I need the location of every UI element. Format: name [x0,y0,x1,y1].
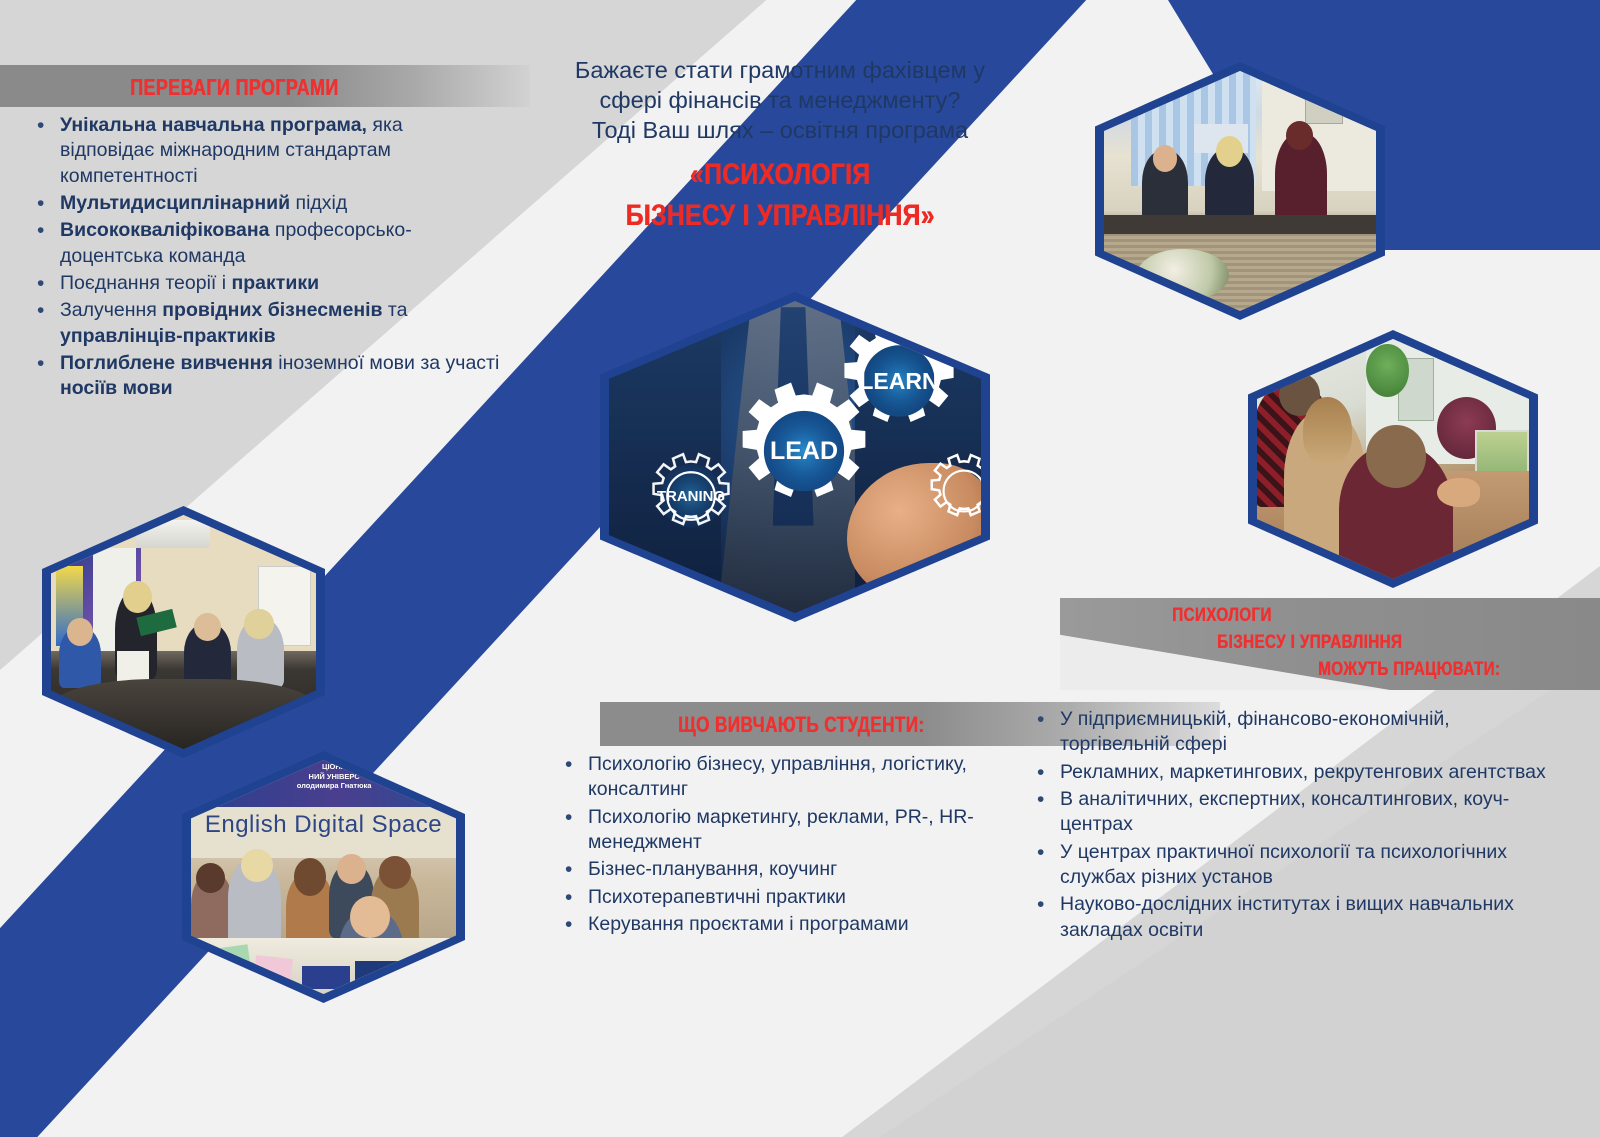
list-item: Мультидисциплінарний підхід [30,191,500,216]
advantages-list: Унікальна навчальна програма, яка відпов… [30,113,500,404]
headline-line-2: сфері фінансів та менеджменту? [540,85,1020,115]
list-item: Унікальна навчальна програма, яка відпов… [30,113,500,189]
list-item: Психологію бізнесу, управління, логістик… [558,752,1028,803]
computer-consultation-photo [1257,339,1529,579]
air-conditioner [136,520,210,548]
list-item: Бізнес-планування, коучинг [558,857,1028,882]
item-bold: провідних бізнесменів [162,299,382,321]
item-text: Залучення [60,299,162,321]
item-text: Поєднання теорії і [60,272,231,294]
item-bold: Висококваліфікована [60,219,269,241]
list-item: Керування проєктами і програмами [558,912,1028,937]
careers-list: У підприємницькій, фінансово-економічній… [1030,707,1550,945]
hexagon-students-inner: ЦІОНА НИЙ УНІВЕРС олодимира Гнатюка Engl… [191,760,456,994]
headline-line-1: Бажаєте стати грамотним фахівцем у [540,55,1020,85]
hexagon-lecture-inner [51,515,316,749]
gear-outline-small-icon [932,455,981,515]
item-bold: практики [231,272,319,294]
student-2-head [294,858,326,895]
speaker-hair [123,581,152,614]
person-center-hair [1216,136,1243,167]
list-item: У центрах практичної психології та психо… [1030,840,1550,891]
careers-header-line-2: БІЗНЕСУ І УПРАВЛІННЯ [1217,631,1402,654]
hexagon-gears-inner: TRANING LEAD LEARN [609,301,981,613]
person-left-head [1153,145,1177,171]
list-item: Психологію маркетингу, реклами, PR-, HR-… [558,805,1028,856]
list-item: Психотерапевтичні практики [558,885,1028,910]
student-4-head [379,856,411,889]
woman-right-hair [244,609,273,639]
headline-block: Бажаєте стати грамотним фахівцем у сфері… [540,55,1020,236]
professor-head [194,613,221,641]
item-text: та [383,299,408,321]
person-maroon-head [1366,425,1426,487]
headline-line-3: Тоді Ваш шлях – освітня програма [540,115,1020,145]
gear-lead-label: LEAD [770,437,838,465]
lecture-hall-photo [51,515,316,749]
english-digital-space-photo: ЦІОНА НИЙ УНІВЕРС олодимира Гнатюка Engl… [191,760,456,994]
houseplant-green [1366,344,1410,397]
hexagon-meeting-inner [1104,71,1376,311]
item-text: іноземної мови за участі [273,352,499,374]
brochure-page: ПЕРЕВАГИ ПРОГРАМИ Унікальна навчальна пр… [0,0,1600,1137]
gear-learn-label: LEARN [859,368,938,394]
item-text: підхід [290,192,347,214]
item-bold: управлінців-практиків [60,325,276,347]
advantages-header-bar: ПЕРЕВАГИ ПРОГРАМИ [0,65,530,107]
student-3-head [337,854,366,884]
pointing-finger [1437,478,1481,507]
digital-space-sign-label: English Digital Space [191,811,456,839]
list-item: Висококваліфікована професорсько-доцентс… [30,218,500,269]
program-title-line-2: БІЗНЕСУ І УПРАВЛІННЯ» [583,196,977,237]
list-item: У підприємницькій, фінансово-економічній… [1030,707,1550,758]
item-bold: Мультидисциплінарний [60,192,290,214]
list-item: Рекламних, маркетингових, рекрутенгових … [1030,760,1550,785]
teacher-hair [241,849,273,882]
program-title-line-1: «ПСИХОЛОГІЯ [583,155,977,196]
meeting-room-photo [1104,71,1376,311]
list-item: Поглиблене вивчення іноземної мови за уч… [30,351,500,402]
study-header-label: ЩО ВИВЧАЮТЬ СТУДЕНТИ: [678,712,924,738]
item-bold: носіїв мови [60,377,173,399]
careers-header-bar: ПСИХОЛОГИ БІЗНЕСУ І УПРАВЛІННЯ МОЖУТЬ ПР… [1060,598,1600,690]
booklet-blue [302,966,350,989]
study-list: Психологію бізнесу, управління, логістик… [558,752,1028,939]
student-5-head [350,896,390,938]
hexagon-computer-inner [1257,339,1529,579]
careers-header-line-3: МОЖУТЬ ПРАЦЮВАТИ: [1318,658,1500,681]
list-item: В аналітичних, експертних, консалтингови… [1030,787,1550,838]
advantages-header-label: ПЕРЕВАГИ ПРОГРАМИ [130,74,338,101]
item-bold: Поглиблене вивчення [60,352,273,374]
gears-overlay-svg: TRANING LEAD LEARN [609,301,981,613]
list-item: Поєднання теорії і практики [30,271,500,296]
list-item: Залучення провідних бізнесменів та управ… [30,298,500,349]
careers-header-line-1: ПСИХОЛОГИ [1172,604,1272,627]
item-bold: Унікальна навчальна програма, [60,114,367,136]
person-long-hair [1303,397,1352,464]
list-item: Науково-дослідних інститутах і вищих нав… [1030,892,1550,943]
gear-traning-label: TRANING [657,488,725,505]
